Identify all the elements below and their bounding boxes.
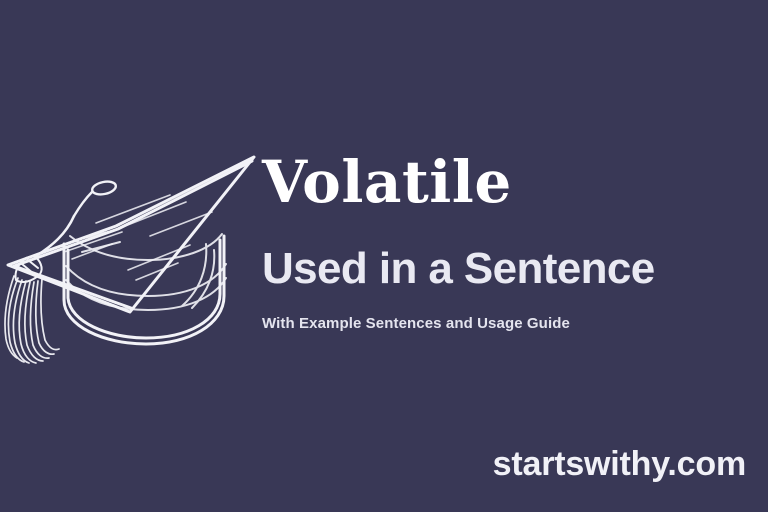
cap-button-icon: [74, 180, 117, 216]
graduation-cap-icon: [0, 140, 268, 370]
headword: Volatile: [262, 150, 762, 214]
subtitle: With Example Sentences and Usage Guide: [262, 294, 762, 334]
page-title: Used in a Sentence: [262, 214, 762, 294]
tassel-strands: [5, 276, 59, 363]
hero-text-block: Volatile Used in a Sentence With Example…: [262, 150, 762, 334]
poster-canvas: Volatile Used in a Sentence With Example…: [0, 0, 768, 512]
brand-watermark: startswithy.com: [493, 444, 746, 484]
